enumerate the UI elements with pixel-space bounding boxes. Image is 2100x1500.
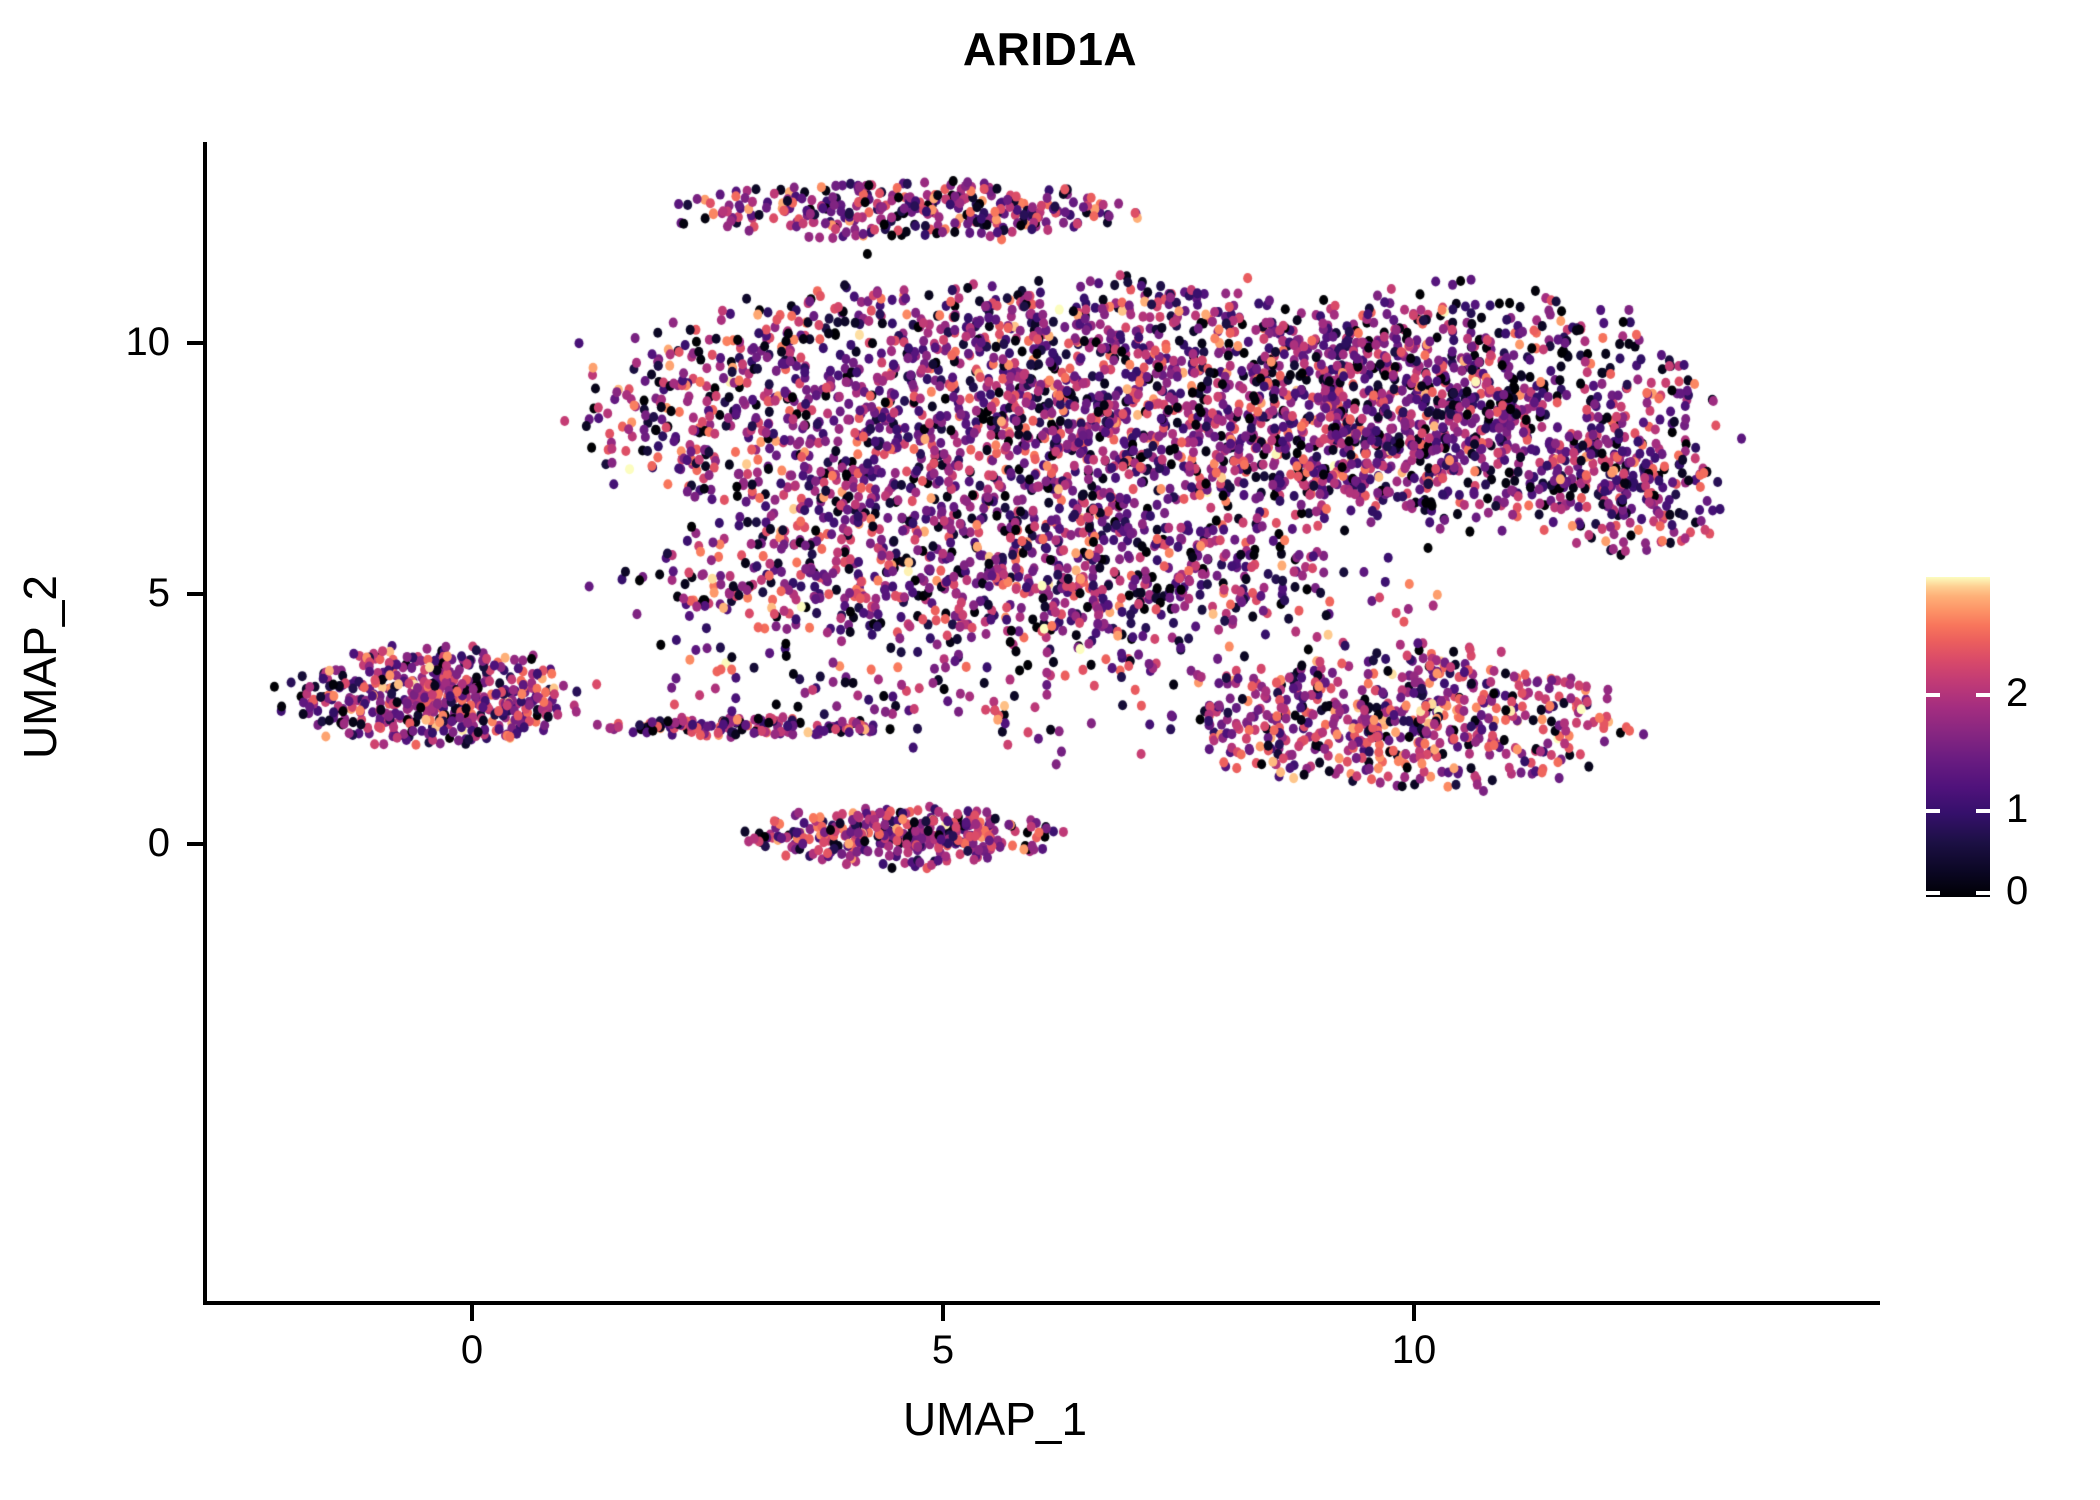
colorbar-legend: 2 1 0 — [1926, 577, 1990, 897]
umap-feature-plot: ARID1A 0 5 10 10 5 0 UMAP_1 UMAP_2 2 1 0 — [0, 0, 2100, 1500]
colorbar-tick-0-left — [1926, 891, 1940, 895]
colorbar-label-0: 0 — [2006, 871, 2028, 911]
colorbar-label-1: 1 — [2006, 789, 2028, 829]
colorbar-tick-1-left — [1926, 809, 1940, 813]
scatter-points-layer — [0, 0, 2100, 1500]
colorbar-gradient — [1926, 577, 1990, 897]
colorbar-tick-2-left — [1926, 693, 1940, 697]
colorbar-tick-1-right — [1976, 809, 1990, 813]
colorbar-tick-0-right — [1976, 891, 1990, 895]
colorbar-tick-2-right — [1976, 693, 1990, 697]
colorbar-label-2: 2 — [2006, 673, 2028, 713]
